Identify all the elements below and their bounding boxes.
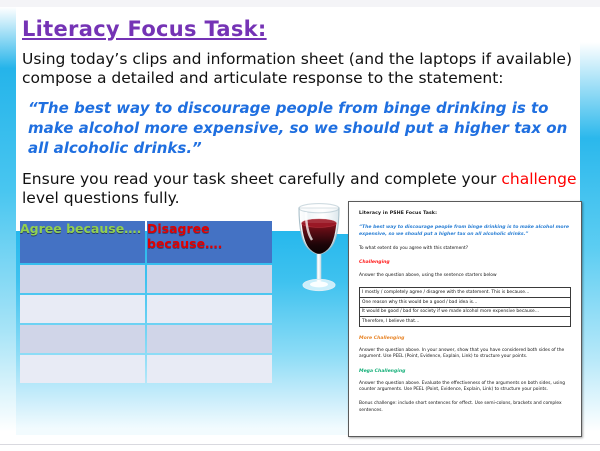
sentence-starter-row: It would be good / bad for society if we… <box>360 307 571 317</box>
presentation-slide: Literacy Focus Task: Using today’s clips… <box>0 0 600 451</box>
sentence-starter-cell: One reason why this would be a good / ba… <box>360 298 571 308</box>
worksheet-heading-mega-challenging: Mega Challenging <box>359 369 571 374</box>
table-header-row: Agree because…. Disagree because…. <box>20 221 272 263</box>
worksheet-bonus-challenge-body: Bonus challenge: include short sentences… <box>359 401 571 414</box>
table-cell-disagree[interactable] <box>147 355 272 383</box>
slide-title: Literacy Focus Task: <box>22 17 578 41</box>
slide-text-block: Literacy Focus Task: Using today’s clips… <box>22 17 578 208</box>
table-row[interactable] <box>20 355 272 383</box>
table-cell-agree[interactable] <box>20 295 145 323</box>
table-cell-disagree[interactable] <box>147 295 272 323</box>
table-header-disagree: Disagree because…. <box>147 221 272 263</box>
disagree-header-label: Disagree because…. <box>147 221 272 251</box>
sentence-starter-row: Therefore, I believe that… <box>360 317 571 327</box>
worksheet-title: Literacy in PSHE Focus Task: <box>359 211 571 216</box>
table-header-agree: Agree because…. <box>20 221 145 263</box>
agree-header-label: Agree because…. <box>20 221 145 236</box>
sentence-starter-cell: It would be good / bad for society if we… <box>360 307 571 317</box>
instruction-text-after: level questions fully. <box>22 189 180 207</box>
table-row[interactable] <box>20 325 272 353</box>
worksheet-challenging-intro: Answer the question above, using the sen… <box>359 273 571 279</box>
sentence-starter-row: I mostly / completely agree / disagree w… <box>360 288 571 298</box>
table-cell-disagree[interactable] <box>147 265 272 293</box>
worksheet-sentence-starters-table: I mostly / completely agree / disagree w… <box>359 287 571 326</box>
viewer-bottom-strip <box>0 444 600 451</box>
worksheet-preview[interactable]: Literacy in PSHE Focus Task: “The best w… <box>348 201 582 437</box>
right-gradient-bar <box>580 7 600 445</box>
wine-glass-icon <box>288 203 350 303</box>
task-intro-paragraph: Using today’s clips and information shee… <box>22 50 578 88</box>
table-cell-agree[interactable] <box>20 355 145 383</box>
table-cell-agree[interactable] <box>20 325 145 353</box>
agree-disagree-table: Agree because…. Disagree because…. <box>18 219 274 385</box>
worksheet-quote: “The best way to discourage people from … <box>359 224 571 238</box>
table-cell-agree[interactable] <box>20 265 145 293</box>
instruction-text-before: Ensure you read your task sheet carefull… <box>22 170 501 188</box>
worksheet-mega-challenging-body: Answer the question above. Evaluate the … <box>359 381 571 394</box>
worksheet-question: To what extent do you agree with this st… <box>359 246 571 251</box>
left-gradient-bar <box>0 7 16 445</box>
statement-quote: “The best way to discourage people from … <box>28 98 578 158</box>
worksheet-heading-more-challenging: More Challenging <box>359 336 571 341</box>
slide-canvas: Literacy Focus Task: Using today’s clips… <box>0 7 600 445</box>
worksheet-heading-challenging: Challenging <box>359 260 571 265</box>
challenge-highlight: challenge <box>501 170 576 188</box>
table-cell-disagree[interactable] <box>147 325 272 353</box>
sentence-starter-cell: Therefore, I believe that… <box>360 317 571 327</box>
table-row[interactable] <box>20 265 272 293</box>
sentence-starter-cell: I mostly / completely agree / disagree w… <box>360 288 571 298</box>
worksheet-more-challenging-body: Answer the question above. In your answe… <box>359 348 571 361</box>
sentence-starter-row: One reason why this would be a good / ba… <box>360 298 571 308</box>
table-row[interactable] <box>20 295 272 323</box>
